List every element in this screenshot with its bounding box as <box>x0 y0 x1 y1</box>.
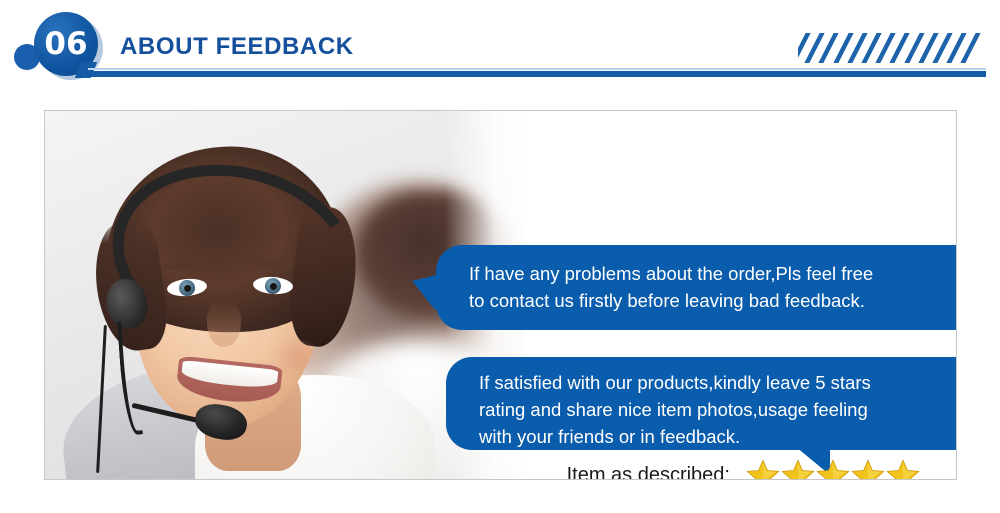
feedback-card: If have any problems about the order,Pls… <box>44 110 957 480</box>
page-title: ABOUT FEEDBACK <box>120 33 354 61</box>
header-rule-thin <box>88 68 986 70</box>
star-icon <box>746 458 780 480</box>
section-header: 06 ABOUT FEEDBACK <box>0 0 1000 96</box>
star-icon <box>886 458 920 480</box>
speech-bubble-satisfied: If satisfied with our products,kindly le… <box>446 357 957 450</box>
star-icon <box>816 458 850 480</box>
speech-bubble-problems: If have any problems about the order,Pls… <box>436 245 957 330</box>
star-rating <box>746 458 920 480</box>
agent-teeth <box>181 360 279 390</box>
rating-row: Item as described: <box>528 454 920 480</box>
header-rule-thick <box>88 71 986 77</box>
star-icon <box>851 458 885 480</box>
speech-bubble-problems-text: If have any problems about the order,Pls… <box>469 260 957 314</box>
star-icon <box>781 458 815 480</box>
header-diagonal-stripes <box>798 33 984 63</box>
rating-label: Item as described: <box>528 464 746 481</box>
speech-bubble-satisfied-text: If satisfied with our products,kindly le… <box>479 369 957 450</box>
speech-bubble-tail-left <box>412 275 436 311</box>
rating-list: Item as described:Communication:Shipping… <box>528 454 920 480</box>
